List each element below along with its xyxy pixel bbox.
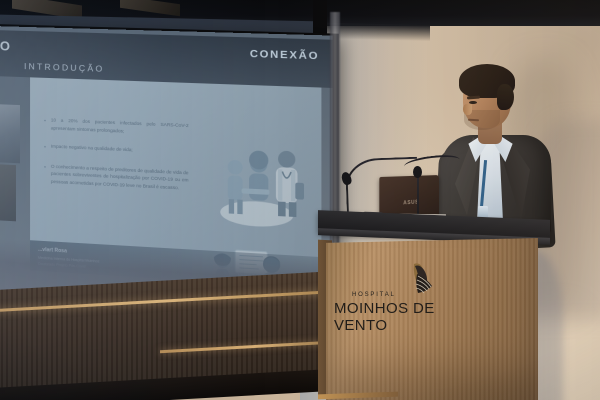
ceiling-slat <box>120 0 180 16</box>
slide-edge-photo-lower <box>0 164 16 222</box>
slide-header-left-text: ÃO <box>0 38 10 54</box>
podium-microphone-head-icon <box>413 166 422 178</box>
podium-brand-small: HOSPITAL <box>352 292 396 298</box>
bullet-text: Impacto negativo na qualidade de vida; <box>51 143 133 155</box>
list-item: • 10 a 20% dos pacientes infectados pelo… <box>44 116 188 137</box>
podium-brand-large: MOINHOS DE VENTO <box>334 300 480 334</box>
bullet-dot-icon: • <box>44 163 46 185</box>
slide-bullet-list: • 10 a 20% dos pacientes infectados pelo… <box>44 116 188 204</box>
speaker-hair-side <box>497 84 514 110</box>
bullet-dot-icon: • <box>44 143 46 151</box>
podium-microphone-stem <box>417 172 419 220</box>
slide-brand-conexao: CONEXÃO <box>250 48 319 63</box>
list-item: • Impacto negativo na qualidade de vida; <box>44 142 188 157</box>
bullet-dot-icon: • <box>44 117 46 131</box>
hospital-logo-block: HOSPITAL MOINHOS DE VENTO <box>330 262 480 332</box>
slide-edge-photo-upper <box>0 104 20 164</box>
windmill-sail-icon <box>400 262 436 296</box>
bullet-text: O conhecimento a respeito de preditores … <box>51 162 189 192</box>
speaker-nose <box>463 104 472 115</box>
medical-consultation-illustration <box>203 143 310 233</box>
list-item: • O conhecimento a respeito de preditore… <box>44 162 188 192</box>
presentation-photo: ÃO CONEXÃO INTRODUÇÃO • 10 a 20% dos pac… <box>0 0 600 400</box>
bullet-text: 10 a 20% dos pacientes infectados pelo S… <box>51 116 189 137</box>
